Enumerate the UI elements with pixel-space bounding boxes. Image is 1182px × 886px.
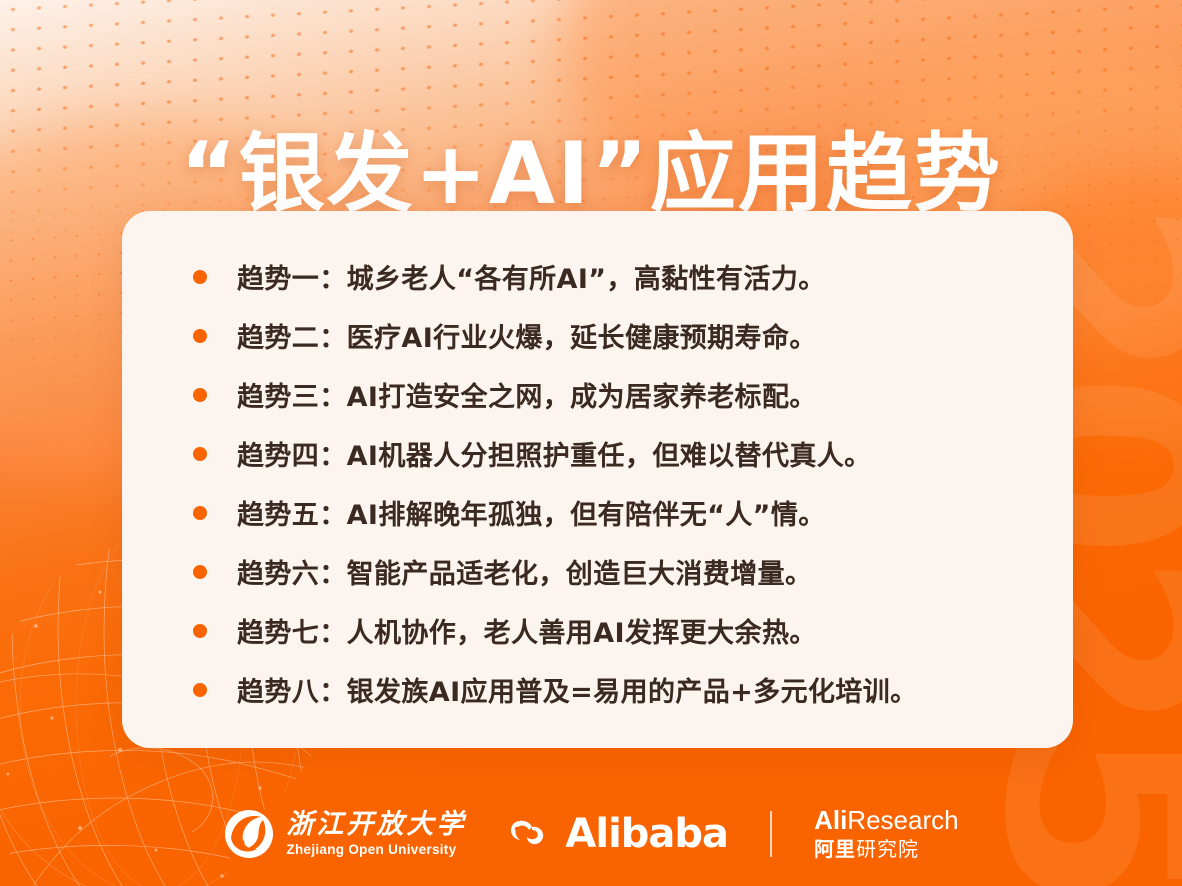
zou-name-en: Zhejiang Open University — [286, 843, 466, 857]
aliresearch-en-bold: Ali — [814, 805, 847, 835]
list-item: 趋势七：人机协作，老人善用AI发挥更大余热。 — [122, 601, 1073, 660]
bullet-icon — [193, 329, 207, 343]
trend-text: 趋势六：智能产品适老化，创造巨大消费增量。 — [237, 552, 812, 591]
alibaba-wordmark: Alibaba — [565, 811, 728, 857]
list-item: 趋势五：AI排解晚年孤独，但有陪伴无“人”情。 — [122, 483, 1073, 542]
list-item: 趋势八：银发族AI应用普及=易用的产品+多元化培训。 — [122, 660, 1073, 719]
bullet-icon — [193, 270, 207, 284]
list-item: 趋势四：AI机器人分担照护重任，但难以替代真人。 — [122, 424, 1073, 483]
zou-text-block: 浙江开放大学 Zhejiang Open University — [286, 811, 466, 857]
logo-zhejiang-open-university: 浙江开放大学 Zhejiang Open University — [223, 808, 466, 860]
footer-logos: 浙江开放大学 Zhejiang Open University Alibaba … — [0, 807, 1182, 860]
logo-alibaba: Alibaba — [508, 811, 728, 857]
list-item: 趋势二：医疗AI行业火爆，延长健康预期寿命。 — [122, 306, 1073, 365]
bullet-icon — [193, 624, 207, 638]
list-item: 趋势三：AI打造安全之网，成为居家养老标配。 — [122, 365, 1073, 424]
aliresearch-cn: 阿里研究院 — [814, 840, 959, 860]
zou-name-cn: 浙江开放大学 — [286, 811, 466, 838]
logo-aliresearch: AliResearch 阿里研究院 — [814, 807, 959, 860]
trend-text: 趋势七：人机协作，老人善用AI发挥更大余热。 — [237, 611, 817, 650]
trend-text: 趋势五：AI排解晚年孤独，但有陪伴无“人”情。 — [237, 493, 826, 532]
list-item: 趋势一：城乡老人“各有所AI”，高黏性有活力。 — [122, 247, 1073, 306]
aliresearch-en: AliResearch — [814, 807, 959, 833]
bullet-icon — [193, 565, 207, 579]
trend-text: 趋势三：AI打造安全之网，成为居家养老标配。 — [237, 375, 817, 414]
alibaba-smile-icon — [508, 815, 556, 853]
trend-text: 趋势四：AI机器人分担照护重任，但难以替代真人。 — [237, 434, 872, 473]
aliresearch-en-rest: Research — [847, 805, 958, 835]
bullet-icon — [193, 506, 207, 520]
aliresearch-cn-rest: 研究院 — [856, 839, 919, 861]
list-item: 趋势六：智能产品适老化，创造巨大消费增量。 — [122, 542, 1073, 601]
trend-text: 趋势二：医疗AI行业火爆，延长健康预期寿命。 — [237, 316, 817, 355]
poster-root: 2025 — [0, 0, 1182, 886]
footer-divider — [770, 811, 772, 857]
trend-text: 趋势八：银发族AI应用普及=易用的产品+多元化培训。 — [237, 670, 918, 709]
bullet-icon — [193, 447, 207, 461]
bullet-icon — [193, 388, 207, 402]
trends-list: 趋势一：城乡老人“各有所AI”，高黏性有活力。 趋势二：医疗AI行业火爆，延长健… — [122, 211, 1073, 719]
trend-text: 趋势一：城乡老人“各有所AI”，高黏性有活力。 — [237, 257, 826, 296]
aliresearch-cn-bold: 阿里 — [814, 839, 856, 861]
zou-emblem-icon — [223, 808, 275, 860]
page-title: “银发+AI”应用趋势 — [180, 130, 1002, 219]
bullet-icon — [193, 683, 207, 697]
trends-card: 趋势一：城乡老人“各有所AI”，高黏性有活力。 趋势二：医疗AI行业火爆，延长健… — [122, 211, 1073, 748]
